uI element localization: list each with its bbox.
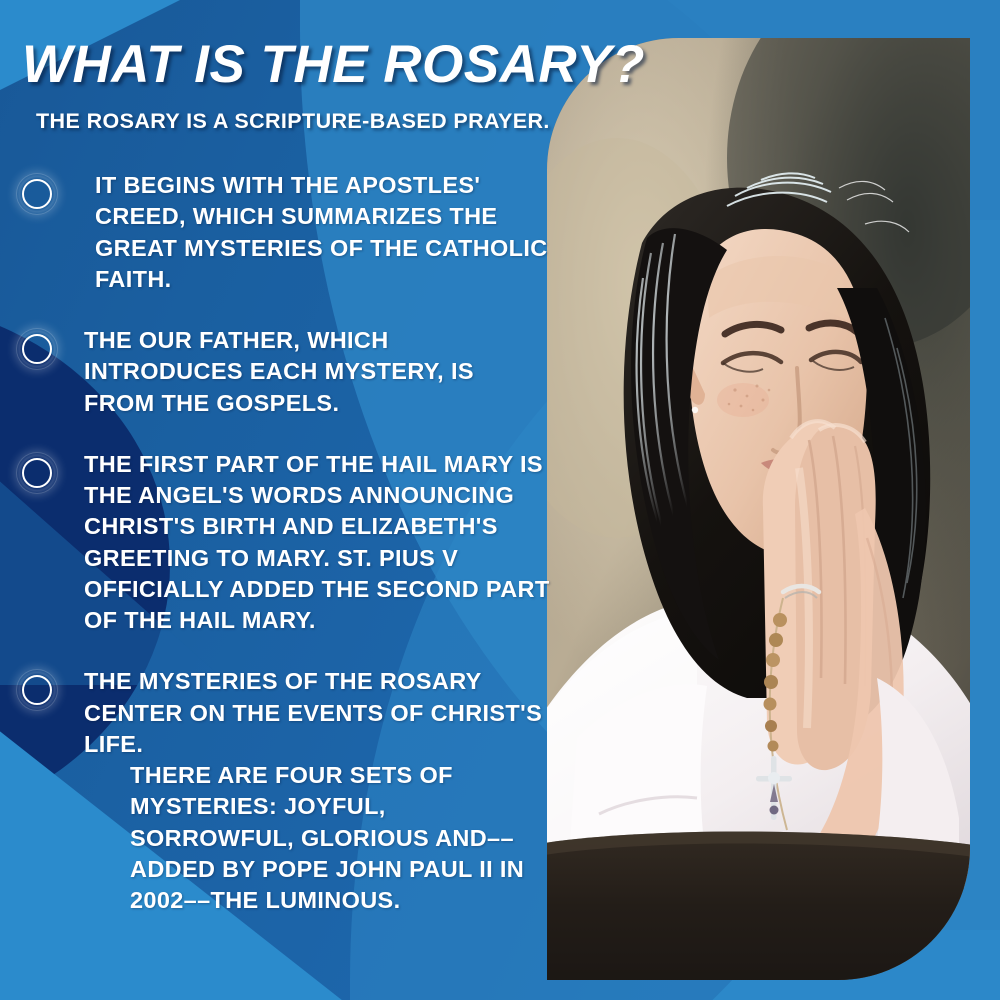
praying-woman-photo <box>547 38 970 980</box>
ring-bullet-icon <box>17 453 57 493</box>
ring-bullet-icon <box>17 329 57 369</box>
page-subtitle: THE ROSARY IS A SCRIPTURE-BASED PRAYER. <box>36 110 550 134</box>
bullet-list: IT BEGINS WITH THE APOSTLES' CREED, WHIC… <box>0 170 560 934</box>
bullet-sub-text: THERE ARE FOUR SETS OF MYSTERIES: JOYFUL… <box>130 760 560 916</box>
rosary-poster: WHAT IS THE ROSARY? THE ROSARY IS A SCRI… <box>0 0 1000 1000</box>
page-title: WHAT IS THE ROSARY? <box>22 38 642 92</box>
list-item: IT BEGINS WITH THE APOSTLES' CREED, WHIC… <box>0 170 560 295</box>
ring-bullet-icon <box>17 174 57 214</box>
list-item: THE MYSTERIES OF THE ROSARY CENTER ON TH… <box>0 666 560 916</box>
bullet-text: THE OUR FATHER, WHICH INTRODUCES EACH MY… <box>84 325 560 419</box>
ring-bullet-icon <box>17 670 57 710</box>
list-item: THE OUR FATHER, WHICH INTRODUCES EACH MY… <box>0 325 560 419</box>
bullet-text: THE FIRST PART OF THE HAIL MARY IS THE A… <box>84 449 560 637</box>
list-item: THE FIRST PART OF THE HAIL MARY IS THE A… <box>0 449 560 637</box>
bullet-text: IT BEGINS WITH THE APOSTLES' CREED, WHIC… <box>95 170 560 295</box>
bullet-text: THE MYSTERIES OF THE ROSARY CENTER ON TH… <box>84 666 560 760</box>
photo-illustration <box>547 38 970 980</box>
